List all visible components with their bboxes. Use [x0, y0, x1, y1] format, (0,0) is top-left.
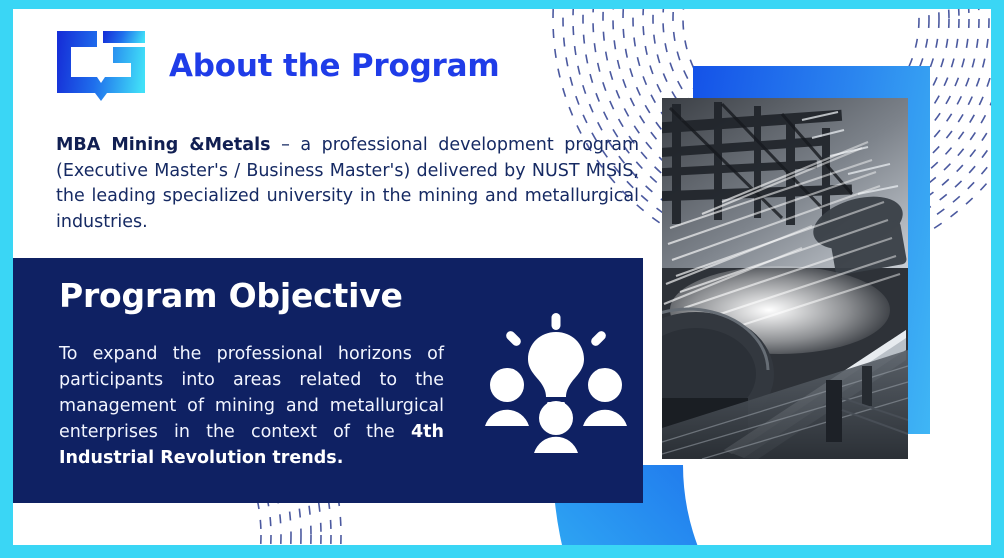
- objective-body: To expand the professional horizons of p…: [59, 341, 444, 471]
- slide-root: About the Program MBA Mining &Metals – a…: [0, 0, 1004, 558]
- page-header: About the Program: [55, 29, 499, 103]
- open-book-logo-icon: [55, 29, 147, 103]
- page-title: About the Program: [169, 48, 499, 84]
- intro-paragraph: MBA Mining &Metals – a professional deve…: [56, 133, 639, 235]
- lightbulb-with-people-icon: [485, 313, 627, 453]
- objective-body-lead: To expand the professional horizons of p…: [59, 344, 444, 442]
- intro-lead: MBA Mining &Metals: [56, 135, 271, 155]
- slide-canvas: About the Program MBA Mining &Metals – a…: [13, 9, 991, 545]
- objective-title: Program Objective: [59, 276, 403, 315]
- steel-mill-photo: [662, 98, 908, 459]
- program-objective-panel: Program Objective To expand the professi…: [13, 258, 643, 503]
